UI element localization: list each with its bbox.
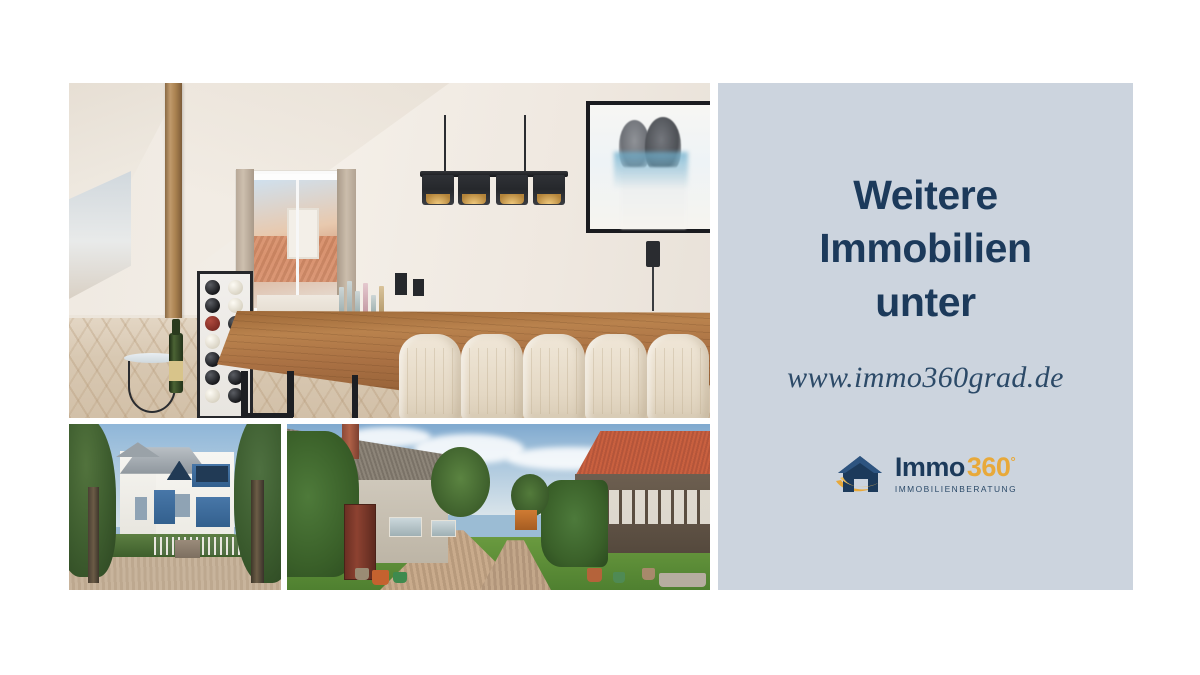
orange-panel bbox=[515, 510, 536, 530]
champagne-bottle bbox=[169, 333, 183, 393]
flower-pot bbox=[355, 568, 369, 580]
brand-logo: Immo 360 ° IMMOBILIENBERATUNG bbox=[834, 451, 1017, 497]
page-title: Weitere Immobilien unter bbox=[819, 169, 1031, 329]
dining-chair bbox=[647, 334, 709, 418]
degree-symbol: ° bbox=[1010, 455, 1015, 468]
headline-line-1: Weitere bbox=[819, 169, 1031, 222]
table-leg bbox=[352, 375, 358, 418]
ivy-right bbox=[541, 480, 609, 566]
lamp-shade bbox=[422, 175, 454, 205]
window bbox=[389, 517, 423, 537]
dining-chair bbox=[523, 334, 585, 418]
tree-trunk-left bbox=[88, 487, 99, 583]
decor-black-box bbox=[395, 273, 407, 295]
brand-name-primary: Immo bbox=[895, 454, 965, 481]
brand-wordmark: Immo 360 ° IMMOBILIENBERATUNG bbox=[895, 454, 1017, 493]
lamp-shade bbox=[496, 175, 528, 205]
tree-trunk-right bbox=[251, 480, 264, 583]
info-panel: Weitere Immobilien unter www.immo360grad… bbox=[718, 83, 1133, 590]
pendant-light-bar bbox=[420, 171, 568, 177]
window-dark bbox=[135, 497, 148, 520]
photo-villa-exterior bbox=[69, 424, 281, 590]
table-leg bbox=[241, 371, 248, 418]
speaker-stand bbox=[652, 267, 654, 311]
artwork-canvas bbox=[590, 105, 710, 229]
decor-black-box bbox=[413, 279, 424, 296]
headline-line-3: unter bbox=[819, 276, 1031, 329]
house-swoosh-logo-icon bbox=[834, 451, 886, 497]
speaker bbox=[646, 241, 660, 267]
window-dark bbox=[175, 494, 190, 517]
headline-line-2: Immobilien bbox=[819, 222, 1031, 275]
slide-canvas: Weitere Immobilien unter www.immo360grad… bbox=[0, 0, 1200, 675]
table-leg bbox=[241, 413, 293, 418]
window-dark bbox=[196, 466, 228, 483]
flower-pot bbox=[642, 568, 655, 580]
brand-subtitle: IMMOBILIENBERATUNG bbox=[895, 485, 1017, 493]
website-url[interactable]: www.immo360grad.de bbox=[787, 361, 1064, 395]
tree-center bbox=[431, 447, 490, 517]
lamp-shade bbox=[533, 175, 565, 205]
bottle-group bbox=[337, 279, 393, 313]
bottle-label bbox=[169, 361, 183, 381]
dining-chair bbox=[461, 334, 523, 418]
photo-interior-dining bbox=[69, 83, 710, 418]
property-photo-collage bbox=[69, 83, 710, 590]
flower-pot bbox=[613, 572, 626, 584]
blue-panel bbox=[196, 497, 230, 527]
lamp-shade bbox=[458, 175, 490, 205]
window-mullion bbox=[251, 180, 345, 308]
framed-artwork bbox=[586, 101, 710, 233]
flower-pot bbox=[393, 572, 407, 584]
garden-wall bbox=[175, 540, 200, 558]
blue-panel bbox=[154, 490, 175, 523]
dining-chair bbox=[399, 334, 461, 418]
garden-bench bbox=[659, 573, 706, 586]
dining-chair bbox=[585, 334, 647, 418]
table-leg bbox=[287, 371, 294, 417]
window bbox=[431, 520, 456, 537]
photo-country-houses bbox=[287, 424, 710, 590]
brand-name-accent: 360 bbox=[967, 454, 1011, 481]
artwork-blue-wash bbox=[614, 152, 688, 189]
flower-pot bbox=[372, 570, 389, 585]
flower-pot bbox=[587, 568, 601, 581]
